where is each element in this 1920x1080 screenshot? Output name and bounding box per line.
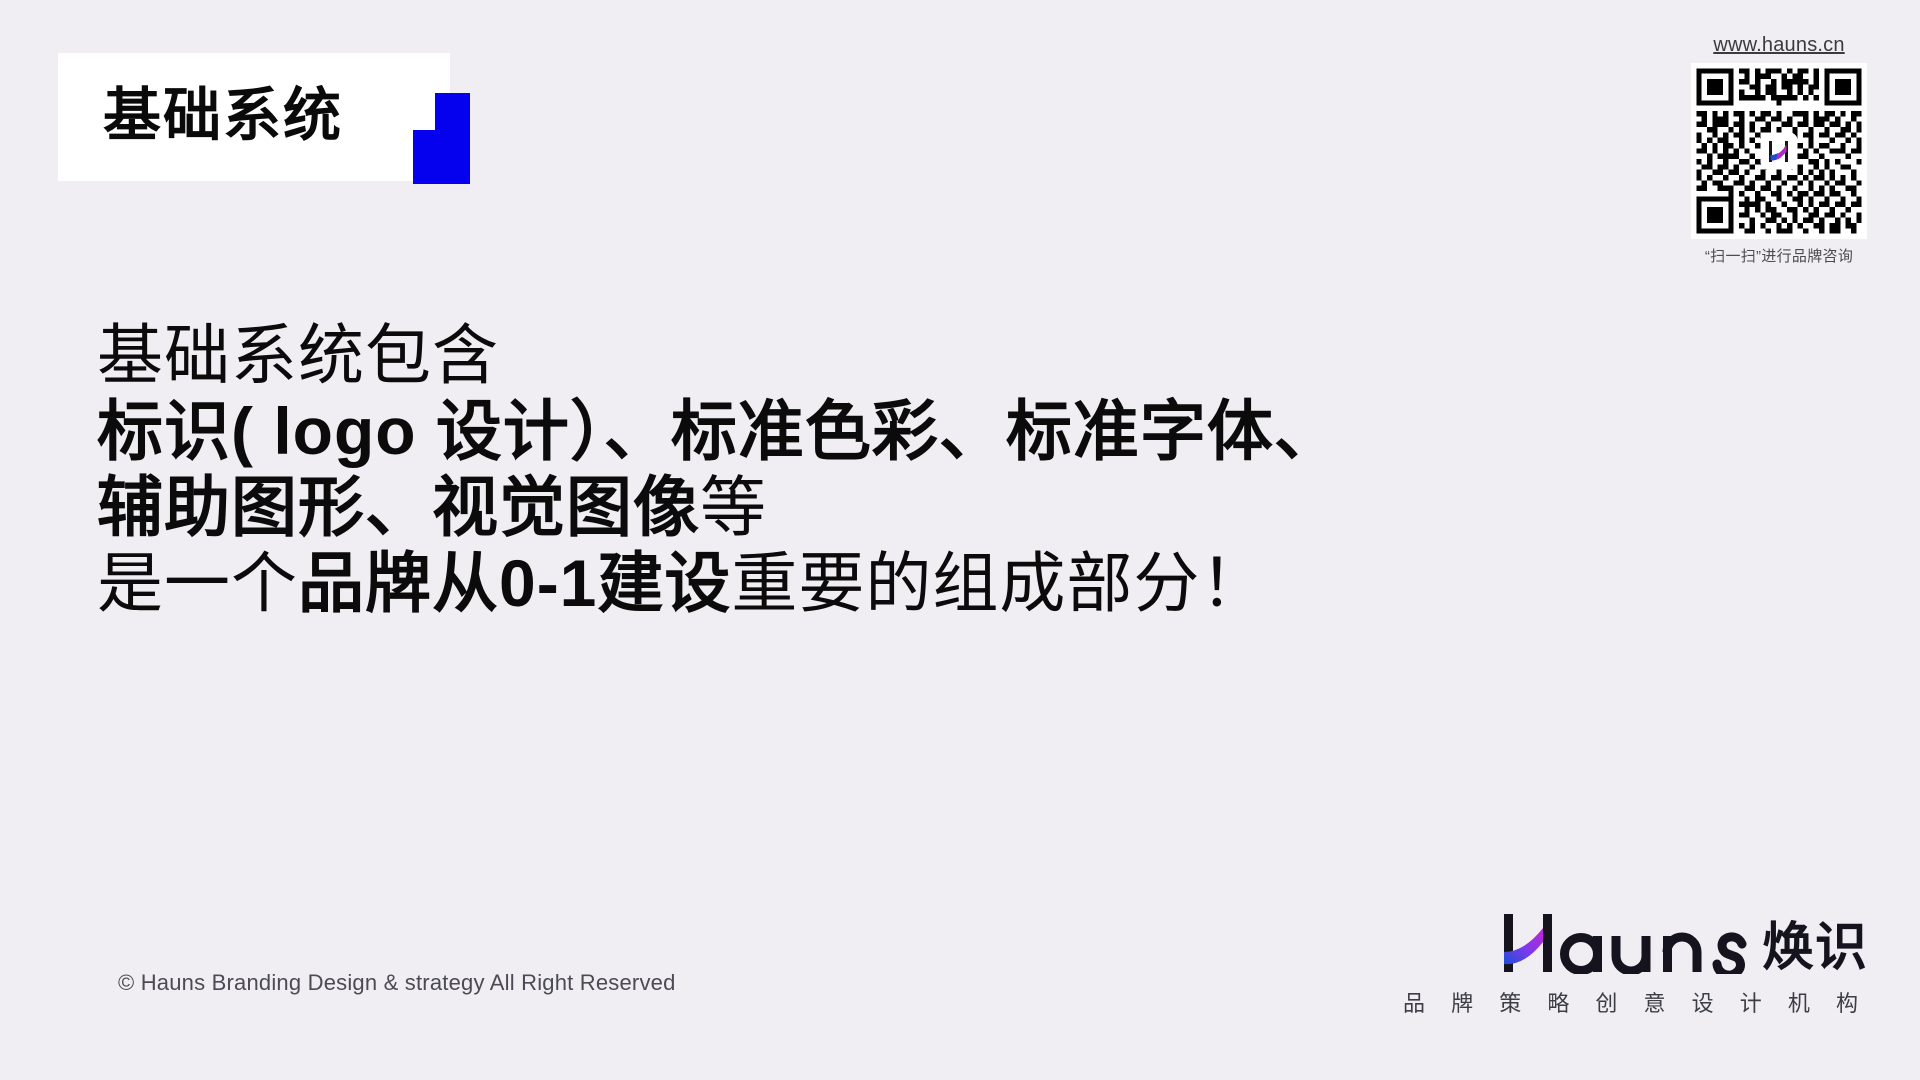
body-line-4: 是一个品牌从0-1建设重要的组成部分！ — [97, 546, 1341, 622]
body-line-2: 标识( logo 设计）、标准色彩、标准字体、 — [97, 394, 1341, 470]
body-line-4-tail: 重要的组成部分！ — [731, 546, 1267, 620]
body-copy: 基础系统包含 标识( logo 设计）、标准色彩、标准字体、 辅助图形、视觉图像… — [97, 318, 1341, 622]
body-line-3: 辅助图形、视觉图像等 — [97, 470, 1341, 546]
body-line-3-bold: 辅助图形、视觉图像 — [97, 470, 700, 544]
qr-block: www.hauns.cn — [1691, 34, 1867, 266]
body-line-4-lead: 是一个 — [97, 546, 298, 620]
brand-chinese-name: 焕识 — [1762, 923, 1868, 974]
body-line-4-bold: 品牌从0-1建设 — [298, 546, 731, 620]
brand-tagline: 品 牌 策 略 创 意 设 计 机 构 — [1393, 986, 1868, 1018]
page-title: 基础系统 — [103, 87, 343, 145]
qr-caption: “扫一扫”进行品牌咨询 — [1691, 248, 1867, 266]
title-block: 基础系统 — [58, 53, 450, 181]
accent-horizontal-bar — [413, 130, 441, 184]
body-line-3-normal: 等 — [700, 470, 767, 544]
hauns-wordmark-icon — [1502, 912, 1752, 974]
blue-corner-accent — [435, 93, 470, 184]
brand-mark: 焕识 — [1393, 912, 1868, 974]
website-url-link[interactable]: www.hauns.cn — [1691, 34, 1867, 56]
brand-logo: 焕识 品 牌 策 略 创 意 设 计 机 构 — [1393, 912, 1868, 1018]
copyright-text: © Hauns Branding Design & strategy All R… — [118, 970, 676, 996]
qr-code-image[interactable] — [1691, 63, 1867, 239]
slide-root: 基础系统 www.hauns.cn — [0, 0, 1920, 1080]
body-line-1: 基础系统包含 — [97, 318, 1341, 394]
